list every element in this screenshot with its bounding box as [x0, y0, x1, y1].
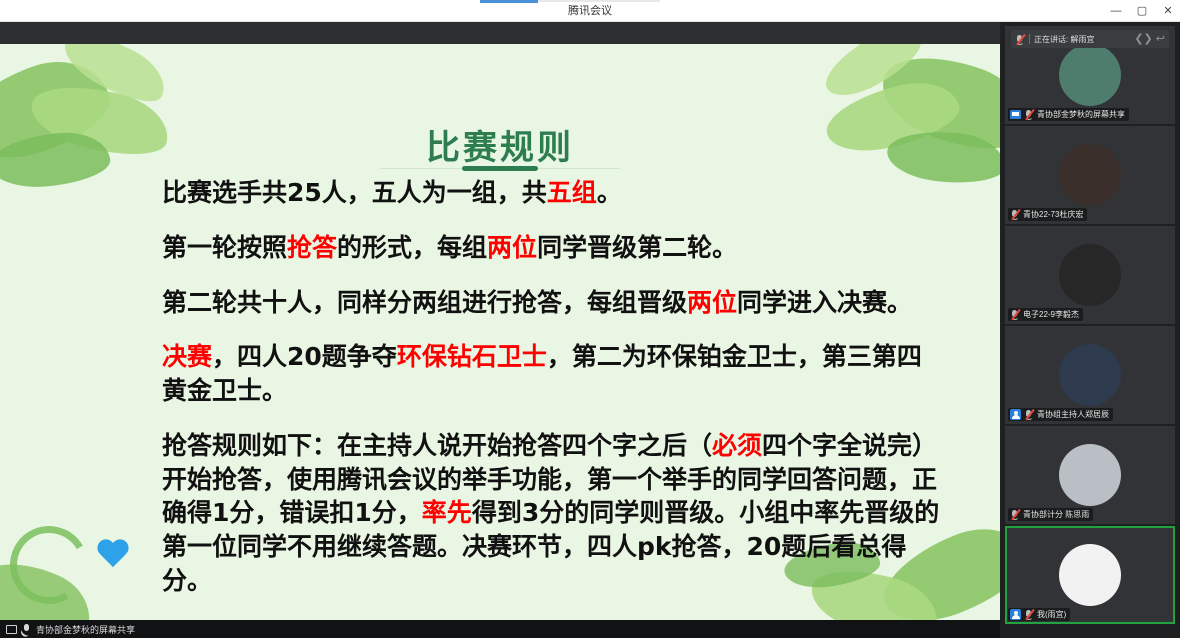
screen-share-status-bar: 青协部金梦秋的屏幕共享: [0, 620, 1000, 638]
close-button[interactable]: ✕: [1162, 0, 1174, 22]
banner-divider: [1029, 34, 1030, 44]
plain-text: 同学进入决赛。: [737, 288, 912, 317]
plain-text: 第一轮按照: [162, 233, 287, 262]
window-titlebar: 腾讯会议 — ▢ ✕: [0, 0, 1180, 22]
slide-paragraph: 第一轮按照抢答的形式，每组两位同学晋级第二轮。: [162, 231, 944, 265]
participant-tile[interactable]: 青协22-73杜庆宏: [1005, 126, 1175, 224]
mic-off-icon: [1010, 209, 1020, 220]
highlighted-text: 必须: [712, 431, 762, 460]
slide-body-text: 比赛选手共25人，五人为一组，共五组。第一轮按照抢答的形式，每组两位同学晋级第二…: [162, 176, 944, 598]
presentation-slide: 比赛规则 比赛选手共25人，五人为一组，共五组。第一轮按照抢答的形式，每组两位同…: [0, 44, 1000, 622]
tencent-meeting-window: 腾讯会议 — ▢ ✕ 录制中 比赛规则: [0, 0, 1180, 638]
shared-screen-stage[interactable]: 录制中 比赛规则 比赛选手共25人，五人为一组，共五组。第一轮按照抢答的形式，每…: [0, 22, 1000, 638]
avatar: [1059, 144, 1121, 206]
screen-share-status-label: 青协部金梦秋的屏幕共享: [36, 623, 135, 636]
participant-name-chip: 电子22-9李毅杰: [1008, 308, 1083, 321]
participant-name-label: 青协部计分 陈思雨: [1023, 509, 1089, 520]
participant-tile[interactable]: 青协组主持人郑居辰: [1005, 326, 1175, 424]
slide-paragraph: 比赛选手共25人，五人为一组，共五组。: [162, 176, 944, 210]
plain-text: ，四人20题争夺: [212, 342, 397, 371]
participant-name-chip: 青协22-73杜庆宏: [1008, 208, 1087, 221]
title-underline: [380, 168, 620, 169]
mic-off-icon: [1010, 309, 1020, 320]
highlighted-text: 抢答: [287, 233, 337, 262]
maximize-button[interactable]: ▢: [1136, 0, 1148, 22]
banner-controls[interactable]: ❮❯↩: [1134, 34, 1165, 45]
participant-tile[interactable]: 电子22-9李毅杰: [1005, 226, 1175, 324]
heart-icon: [96, 540, 130, 574]
mic-off-icon: [1024, 109, 1034, 120]
avatar: [1059, 344, 1121, 406]
plain-text: 的形式，每组: [337, 233, 487, 262]
highlighted-text: 率先: [422, 498, 472, 527]
mic-off-icon: [1010, 509, 1020, 520]
plain-text: 比赛选手共25人，五人为一组，共: [162, 178, 547, 207]
participant-name-chip: 青协部计分 陈思雨: [1008, 508, 1093, 521]
slide-paragraph: 抢答规则如下：在主持人说开始抢答四个字之后（必须四个字全说完）开始抢答，使用腾讯…: [162, 429, 944, 598]
window-title: 腾讯会议: [0, 0, 1180, 22]
back-arrow-icon[interactable]: ↩: [1156, 34, 1165, 45]
participant-name-chip: 青协组主持人郑居辰: [1008, 408, 1113, 421]
mic-icon: [22, 624, 31, 635]
highlighted-text: 两位: [687, 288, 737, 317]
mic-off-icon: [1024, 609, 1034, 620]
avatar: [1059, 444, 1121, 506]
minimize-button[interactable]: —: [1110, 0, 1122, 22]
participant-name-label: 电子22-9李毅杰: [1023, 309, 1079, 320]
participant-name-label: 青协组主持人郑居辰: [1037, 409, 1109, 420]
mic-off-icon: [1015, 34, 1025, 45]
highlighted-text: 环保钻石卫士: [397, 342, 547, 371]
chevron-collapse-icon[interactable]: ❮❯: [1134, 34, 1152, 45]
plain-text: 。: [597, 178, 622, 207]
avatar: [1059, 544, 1121, 606]
participant-tile[interactable]: 青协部计分 陈思雨: [1005, 426, 1175, 524]
active-speaker-label: 正在讲话: 解雨宜: [1034, 34, 1094, 45]
host-badge-icon: [1010, 409, 1021, 420]
avatar: [1059, 44, 1121, 106]
slide-paragraph: 决赛，四人20题争夺环保钻石卫士，第二为环保铂金卫士，第三第四黄金卫士。: [162, 340, 944, 408]
participant-name-chip: 我(雨宜): [1008, 608, 1070, 621]
participant-name-label: 我(雨宜): [1037, 609, 1066, 620]
participant-name-label: 青协22-73杜庆宏: [1023, 209, 1083, 220]
avatar: [1059, 244, 1121, 306]
slide-paragraph: 第二轮共十人，同样分两组进行抢答，每组晋级两位同学进入决赛。: [162, 286, 944, 320]
plain-text: 同学晋级第二轮。: [537, 233, 737, 262]
plain-text: 第二轮共十人，同样分两组进行抢答，每组晋级: [162, 288, 687, 317]
highlighted-text: 两位: [487, 233, 537, 262]
participant-tile[interactable]: 正在讲话: 解雨宜❮❯↩青协部金梦秋的屏幕共享: [1005, 26, 1175, 124]
host-badge-icon: [1010, 609, 1021, 620]
participant-name-label: 青协部金梦秋的屏幕共享: [1037, 109, 1125, 120]
participant-name-chip: 青协部金梦秋的屏幕共享: [1008, 108, 1129, 121]
screen-share-badge-icon: [1010, 110, 1021, 119]
window-controls: — ▢ ✕: [1110, 0, 1174, 22]
monitor-icon: [6, 625, 17, 634]
participant-rail[interactable]: 正在讲话: 解雨宜❮❯↩青协部金梦秋的屏幕共享青协22-73杜庆宏电子22-9李…: [1000, 22, 1180, 638]
mic-off-icon: [1024, 409, 1034, 420]
highlighted-text: 决赛: [162, 342, 212, 371]
plain-text: 抢答规则如下：在主持人说开始抢答四个字之后（: [162, 431, 712, 460]
participant-tile[interactable]: 我(雨宜): [1005, 526, 1175, 624]
highlighted-text: 五组: [547, 178, 597, 207]
active-speaker-banner: 正在讲话: 解雨宜❮❯↩: [1011, 30, 1169, 48]
slide-title: 比赛规则: [0, 120, 1000, 169]
